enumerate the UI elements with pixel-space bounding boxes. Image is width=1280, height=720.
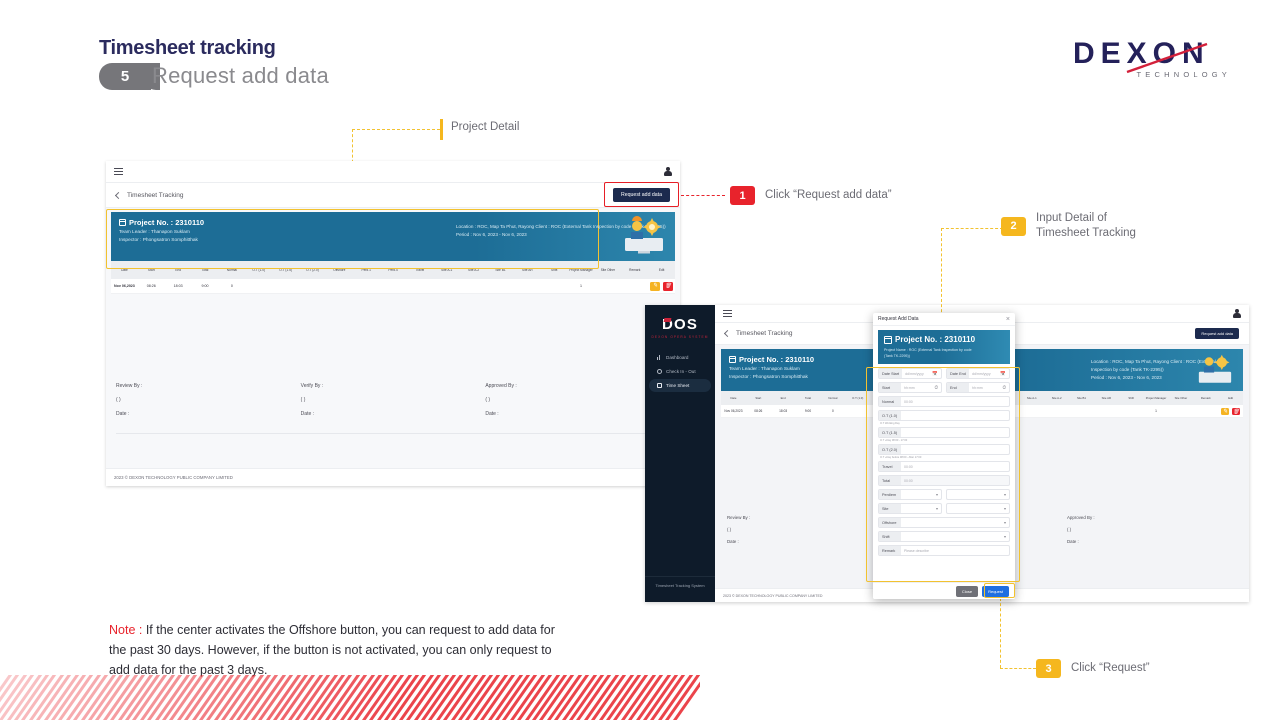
clock-icon bbox=[657, 369, 662, 374]
edit-icon[interactable] bbox=[1221, 408, 1229, 415]
cell-actions bbox=[1218, 408, 1243, 415]
th: Start bbox=[138, 268, 165, 272]
th: Remark bbox=[621, 268, 648, 272]
total-label: Total bbox=[879, 476, 901, 485]
app-topbar bbox=[106, 161, 680, 183]
signature-block: Review By : ( ) Date : Verify By : ( ) D… bbox=[106, 383, 680, 425]
th: Total bbox=[796, 396, 821, 400]
th: Site A-2 bbox=[460, 268, 487, 272]
signature-review-2: Review By : ( ) Date : bbox=[727, 515, 897, 551]
th: End bbox=[771, 396, 796, 400]
callout-2-number: 2 bbox=[1001, 217, 1026, 236]
dos-tagline: DEXON OPERA SYSTEM bbox=[645, 335, 715, 339]
calendar-icon bbox=[119, 219, 126, 226]
step-title: Request add data bbox=[152, 63, 329, 89]
request-add-data-modal: Request Add Data × Project No. : 2310110… bbox=[873, 313, 1015, 599]
hamburger-menu-icon[interactable] bbox=[114, 168, 123, 176]
cell-start: 08:26 bbox=[746, 409, 771, 413]
callout-1-number: 1 bbox=[730, 186, 755, 205]
ot10-help: O.T Working Day bbox=[880, 422, 1010, 425]
cell-project-manager: 1 bbox=[1144, 409, 1169, 413]
modal-title: Request Add Data bbox=[878, 316, 919, 322]
project-detail-label: Project Detail bbox=[451, 121, 519, 133]
cell-total: 9:00 bbox=[796, 409, 821, 413]
cell-date: Nov 06,2023 bbox=[721, 409, 746, 413]
sidebar-item-label: Time Sheet bbox=[666, 383, 689, 388]
hamburger-menu-icon[interactable] bbox=[723, 310, 732, 318]
chevron-down-icon[interactable]: ▾ bbox=[1004, 506, 1009, 511]
date-end-value: dd/mm/yyyy bbox=[969, 372, 1000, 376]
review-date: Date : bbox=[116, 411, 301, 417]
user-avatar-icon[interactable] bbox=[663, 167, 672, 177]
normal-field[interactable]: Normal 00:00 bbox=[878, 396, 1010, 407]
sidebar-item-label: Check In - Out bbox=[666, 369, 696, 374]
verify-paren: ( ) bbox=[301, 397, 486, 403]
app-footer: 2023 © DEXON TECHNOLOGY PUBLIC COMPANY L… bbox=[106, 468, 680, 486]
th: Total bbox=[192, 268, 219, 272]
th: Normal bbox=[218, 268, 245, 272]
approved-paren: ( ) bbox=[1067, 527, 1237, 532]
remark-field[interactable]: Remark Please describe bbox=[878, 545, 1010, 556]
cell-actions bbox=[648, 282, 675, 291]
breadcrumb-2[interactable]: Timesheet Tracking bbox=[725, 330, 792, 337]
approved-paren: ( ) bbox=[485, 397, 670, 403]
review-by-label: Review By : bbox=[727, 515, 897, 520]
delete-icon[interactable] bbox=[1232, 408, 1240, 415]
note-text: If the center activates the Offshore but… bbox=[109, 623, 555, 677]
site-label: Site bbox=[879, 504, 901, 513]
remark-placeholder: Please describe bbox=[901, 549, 1009, 553]
th: O.T (1.0) bbox=[245, 268, 272, 272]
modal-project-name-2: (Tank TK-2295)) bbox=[884, 353, 1004, 359]
th: Site Other bbox=[594, 268, 621, 272]
th: O.T (2.0) bbox=[299, 268, 326, 272]
logo-tagline: TECHNOLOGY bbox=[1073, 70, 1233, 79]
ot20-help: O.T +Day before 08:00 - After 17:00 bbox=[880, 456, 1010, 459]
breadcrumb-label: Timesheet Tracking bbox=[127, 192, 183, 199]
ot10-field[interactable]: O.T (1.0) bbox=[878, 410, 1010, 421]
callout-1-text: Click “Request add data” bbox=[765, 188, 892, 203]
callout-3: 3 Click “Request” bbox=[1036, 659, 1150, 678]
chevron-down-icon[interactable]: ▾ bbox=[1004, 520, 1009, 525]
end-time-field[interactable]: End hh:mm ⏱ bbox=[946, 382, 1010, 393]
approved-date: Date : bbox=[1067, 539, 1237, 544]
th: Site AR bbox=[1094, 396, 1119, 400]
modal-project-number: Project No. : 2310110 bbox=[884, 335, 1004, 344]
modal-header: Request Add Data × bbox=[873, 313, 1015, 326]
th: Project Manager bbox=[568, 268, 595, 272]
th: O.T (1.0) bbox=[845, 396, 870, 400]
edit-icon[interactable] bbox=[650, 282, 660, 291]
step-number-badge: 5 bbox=[99, 63, 151, 90]
row-site: Site ▾ ▾ bbox=[878, 503, 1010, 514]
normal-label: Normal bbox=[879, 397, 901, 406]
th: Site B1 bbox=[1069, 396, 1094, 400]
breadcrumb[interactable]: Timesheet Tracking bbox=[116, 192, 183, 199]
signature-review: Review By : ( ) Date : bbox=[116, 383, 301, 425]
dos-accent-icon bbox=[664, 318, 672, 322]
page-title: Timesheet tracking bbox=[99, 37, 276, 60]
chevron-down-icon[interactable]: ▾ bbox=[936, 492, 941, 497]
highlight-request-button bbox=[984, 583, 1015, 598]
callout-2: 2 Input Detail of Timesheet Tracking bbox=[1001, 211, 1136, 241]
review-paren: ( ) bbox=[116, 397, 301, 403]
end-label: End bbox=[947, 383, 969, 392]
connector-callout-3 bbox=[1000, 668, 1036, 669]
ot15-field[interactable]: O.T (1.5) bbox=[878, 427, 1010, 438]
th: Site A-2 bbox=[1044, 396, 1069, 400]
sidebar-item-time-sheet[interactable]: Time Sheet bbox=[649, 379, 711, 392]
th: Date bbox=[721, 396, 746, 400]
inspection-illustration-icon bbox=[621, 216, 667, 256]
chevron-left-icon[interactable] bbox=[724, 330, 731, 337]
total-field: Total 00:00 bbox=[878, 475, 1010, 486]
travel-value: 00:00 bbox=[901, 465, 1009, 469]
ot20-field[interactable]: O.T (2.0) bbox=[878, 444, 1010, 455]
cell-total: 9:00 bbox=[192, 284, 219, 288]
perdiem-select[interactable]: Perdiem ▾ bbox=[878, 489, 942, 500]
dexon-logo: DEXON TECHNOLOGY bbox=[1073, 38, 1233, 86]
breadcrumb-label: Timesheet Tracking bbox=[736, 330, 792, 337]
th: Start bbox=[746, 396, 771, 400]
shift-select[interactable]: Shift ▾ bbox=[878, 531, 1010, 542]
connector-callout-1 bbox=[681, 195, 725, 196]
date-end-label: Date End bbox=[947, 369, 969, 378]
review-by-label: Review By : bbox=[116, 383, 301, 389]
th: Normal bbox=[820, 396, 845, 400]
inspector: Inspector : Phongsatron Somphitthak bbox=[119, 238, 204, 243]
end-value: hh:mm bbox=[969, 386, 1002, 390]
total-value: 00:00 bbox=[901, 479, 1009, 483]
ot15-help: O.T +Day 08:00 - 17:00 bbox=[880, 439, 1010, 442]
dos-logo: DOS DEXON OPERA SYSTEM bbox=[645, 305, 715, 339]
start-value: hh:mm bbox=[901, 386, 934, 390]
row-perdiem: Perdiem ▾ ▾ bbox=[878, 489, 1010, 500]
sheet-icon bbox=[657, 383, 662, 388]
cell-end: 18:03 bbox=[771, 409, 796, 413]
th: End bbox=[165, 268, 192, 272]
timesheet-table: Date Start End Total Normal O.T (1.0) O.… bbox=[111, 261, 675, 294]
th: Edit bbox=[1218, 396, 1243, 400]
th: Perd.4 bbox=[380, 268, 407, 272]
verify-date: Date : bbox=[301, 411, 486, 417]
highlight-request-add-data bbox=[604, 182, 679, 207]
sidebar-footer: Timesheet Tracking System bbox=[645, 576, 715, 588]
bar-chart-icon bbox=[657, 355, 662, 360]
th: Shift bbox=[541, 268, 568, 272]
sidebar-nav: Dashboard Check In - Out Time Sheet bbox=[645, 351, 715, 392]
signature-approved-2: Approved By : ( ) Date : bbox=[1067, 515, 1237, 551]
chevron-down-icon[interactable]: ▾ bbox=[936, 506, 941, 511]
site-select[interactable]: Site ▾ bbox=[878, 503, 942, 514]
app-subbar: Timesheet Tracking Request add data bbox=[106, 183, 680, 208]
calendar-icon bbox=[884, 336, 892, 344]
perdiem-select-2[interactable]: ▾ bbox=[946, 489, 1010, 500]
modal-project-banner: Project No. : 2310110 Project Name : ROC… bbox=[878, 330, 1010, 364]
th: Remark bbox=[1193, 396, 1218, 400]
review-paren: ( ) bbox=[727, 527, 897, 532]
project-number-label-2: Project No. : 2310110 bbox=[739, 355, 814, 364]
callout-2-text: Input Detail of Timesheet Tracking bbox=[1036, 211, 1136, 241]
modal-project-number-label: Project No. : 2310110 bbox=[895, 335, 975, 344]
user-avatar-icon[interactable] bbox=[1232, 309, 1241, 319]
th: Edit bbox=[648, 268, 675, 272]
shift-label: Shift bbox=[879, 532, 901, 541]
row-dates: Date Start dd/mm/yyyy 📅 Date End dd/mm/y… bbox=[878, 368, 1010, 379]
sidebar-item-check-in-out[interactable]: Check In - Out bbox=[649, 365, 711, 378]
inspection-illustration-icon-2 bbox=[1195, 353, 1235, 387]
cell-start: 08:26 bbox=[138, 284, 165, 288]
delete-icon[interactable] bbox=[663, 282, 673, 291]
connector-tick bbox=[440, 119, 443, 140]
request-add-data-button-2[interactable]: Request add data bbox=[1195, 328, 1239, 339]
divider bbox=[116, 433, 670, 434]
perdiem-label: Perdiem bbox=[879, 490, 901, 499]
th: Site AR bbox=[514, 268, 541, 272]
connector-callout-2 bbox=[941, 228, 1003, 229]
approved-date: Date : bbox=[485, 411, 670, 417]
clock-icon[interactable]: ⏱ bbox=[1002, 385, 1009, 390]
connector-project-detail bbox=[352, 129, 440, 130]
remark-label: Remark bbox=[879, 546, 901, 555]
note-block: Note : If the center activates the Offsh… bbox=[109, 620, 559, 680]
clock-icon[interactable]: ⏱ bbox=[934, 385, 941, 390]
cell-normal: 0 bbox=[820, 409, 845, 413]
th: Site A-1 bbox=[1019, 396, 1044, 400]
offshore-select[interactable]: Offshore ▾ bbox=[878, 517, 1010, 528]
approved-by-label: Approved By : bbox=[1067, 515, 1237, 520]
note-prefix: Note : bbox=[109, 623, 146, 637]
approved-by-label: Approved By : bbox=[485, 383, 670, 389]
th: Travel bbox=[406, 268, 433, 272]
cell-project-manager: 1 bbox=[568, 284, 595, 288]
date-start-value: dd/mm/yyyy bbox=[902, 372, 932, 376]
signature-verify: Verify By : ( ) Date : bbox=[301, 383, 486, 425]
logo-wordmark: DEXON bbox=[1073, 38, 1233, 70]
table-row[interactable]: Nov 06,2023 08:26 18:03 9:00 0 1 bbox=[111, 279, 675, 294]
screenshot-timesheet-list: Timesheet Tracking Request add data Proj… bbox=[106, 161, 680, 486]
chevron-down-icon[interactable]: ▾ bbox=[1004, 492, 1009, 497]
dos-wordmark: DOS bbox=[662, 316, 698, 333]
callout-2-line2: Timesheet Tracking bbox=[1036, 226, 1136, 241]
chevron-down-icon[interactable]: ▾ bbox=[1004, 534, 1009, 539]
th: Date bbox=[111, 268, 138, 272]
th: Perd.1 bbox=[353, 268, 380, 272]
date-end-field[interactable]: Date End dd/mm/yyyy 📅 bbox=[946, 368, 1010, 379]
ot15-label: O.T (1.5) bbox=[879, 428, 901, 437]
callout-1: 1 Click “Request add data” bbox=[730, 186, 892, 205]
th: Shift bbox=[1119, 396, 1144, 400]
callout-2-line1: Input Detail of bbox=[1036, 211, 1136, 226]
normal-value: 00:00 bbox=[901, 400, 1009, 404]
sidebar-item-label: Dashboard bbox=[666, 355, 688, 360]
calendar-icon bbox=[729, 356, 736, 363]
app-sidebar: DOS DEXON OPERA SYSTEM Dashboard Check I… bbox=[645, 305, 715, 602]
project-banner: Project No. : 2310110 Team Leader : Than… bbox=[111, 212, 675, 261]
th: Site Other bbox=[1168, 396, 1193, 400]
project-number-label: Project No. : 2310110 bbox=[129, 218, 204, 227]
th: Project Manager bbox=[1144, 396, 1169, 400]
close-button[interactable]: Close bbox=[956, 586, 978, 597]
th: O.T (1.5) bbox=[272, 268, 299, 272]
callout-3-number: 3 bbox=[1036, 659, 1061, 678]
th: Site B1 bbox=[487, 268, 514, 272]
cell-date: Nov 06,2023 bbox=[111, 284, 138, 288]
verify-by-label: Verify By : bbox=[301, 383, 486, 389]
calendar-icon[interactable]: 📅 bbox=[932, 371, 941, 377]
th: Offshore bbox=[326, 268, 353, 272]
cell-normal: 0 bbox=[218, 284, 245, 288]
ot20-label: O.T (2.0) bbox=[879, 445, 901, 454]
start-label: Start bbox=[879, 383, 901, 392]
close-icon[interactable]: × bbox=[1006, 316, 1010, 323]
signature-approved: Approved By : ( ) Date : bbox=[485, 383, 670, 425]
date-start-label: Date Start bbox=[879, 369, 902, 378]
table-header-row: Date Start End Total Normal O.T (1.0) O.… bbox=[111, 261, 675, 279]
project-number: Project No. : 2310110 bbox=[119, 218, 204, 227]
callout-3-text: Click “Request” bbox=[1071, 661, 1150, 676]
sidebar-item-dashboard[interactable]: Dashboard bbox=[649, 351, 711, 364]
decorative-stripes bbox=[0, 675, 700, 720]
team-leader: Team Leader : Thanapon Suklam bbox=[119, 230, 204, 235]
site-select-2[interactable]: ▾ bbox=[946, 503, 1010, 514]
cell-end: 18:03 bbox=[165, 284, 192, 288]
calendar-icon[interactable]: 📅 bbox=[1000, 371, 1009, 377]
ot10-label: O.T (1.0) bbox=[879, 411, 901, 420]
chevron-left-icon[interactable] bbox=[115, 191, 122, 198]
travel-field[interactable]: Travel 00:00 bbox=[878, 461, 1010, 472]
offshore-label: Offshore bbox=[879, 518, 901, 527]
row-times: Start hh:mm ⏱ End hh:mm ⏱ bbox=[878, 382, 1010, 393]
start-time-field[interactable]: Start hh:mm ⏱ bbox=[878, 382, 942, 393]
travel-label: Travel bbox=[879, 462, 901, 471]
th: Site A-1 bbox=[433, 268, 460, 272]
connector-callout-3-vert bbox=[1000, 598, 1001, 668]
review-date: Date : bbox=[727, 539, 897, 544]
date-start-field[interactable]: Date Start dd/mm/yyyy 📅 bbox=[878, 368, 942, 379]
modal-form: Date Start dd/mm/yyyy 📅 Date End dd/mm/y… bbox=[873, 368, 1015, 556]
project-banner-left: Project No. : 2310110 Team Leader : Than… bbox=[111, 212, 204, 261]
